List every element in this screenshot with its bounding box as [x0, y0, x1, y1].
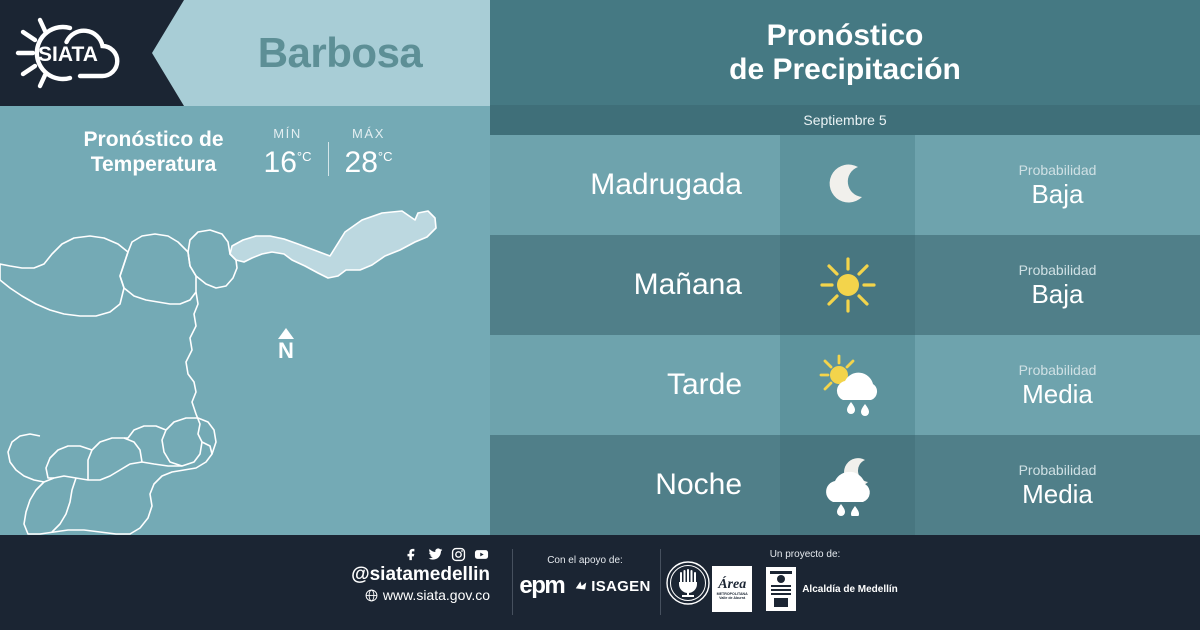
- forecast-row-madrugada[interactable]: Madrugada Probabilidad Baja: [490, 135, 1200, 235]
- probability-label: Probabilidad: [1019, 462, 1097, 479]
- moon-icon: [820, 157, 876, 213]
- globe-icon: [365, 589, 378, 602]
- probability-label: Probabilidad: [1019, 162, 1097, 179]
- left-header: SIATA Barbosa: [0, 0, 490, 106]
- map-municipality-sabaneta: [124, 426, 166, 438]
- probability-cell: Probabilidad Media: [915, 435, 1200, 535]
- period-cell: Tarde: [490, 335, 780, 435]
- period-cell: Madrugada: [490, 135, 780, 235]
- forecast-row-tarde[interactable]: Tarde: [490, 335, 1200, 435]
- support-block: Con el apoyo de: epm ISAGEN: [510, 555, 660, 600]
- probability-label: Probabilidad: [1019, 362, 1097, 379]
- youtube-icon[interactable]: [473, 547, 490, 562]
- instagram-icon[interactable]: [451, 547, 466, 562]
- area-metropolitana-logo[interactable]: Área METROPOLITANA Valle de Aburrá: [712, 566, 752, 612]
- right-panel: Pronóstico de Precipitación Septiembre 5…: [490, 0, 1200, 535]
- social-icons: [330, 547, 490, 562]
- social-block: @siatamedellin www.siata.gov.co: [330, 547, 490, 604]
- temperature-title-line1: Pronóstico de: [84, 127, 224, 152]
- temperature-title-line2: Temperatura: [84, 152, 224, 177]
- left-panel: SIATA Barbosa Pronóstico de Temperatura …: [0, 0, 490, 535]
- forecast-row-manana[interactable]: Mañana: [490, 235, 1200, 335]
- isagen-logo[interactable]: ISAGEN: [574, 578, 650, 595]
- footer-divider-2: [660, 549, 661, 615]
- weather-icon-cell: [780, 235, 915, 335]
- temperature-min-value: 16°C: [264, 142, 312, 178]
- probability-cell: Probabilidad Baja: [915, 235, 1200, 335]
- city-title: Barbosa: [190, 0, 490, 106]
- website-url: www.siata.gov.co: [383, 586, 490, 604]
- twitter-icon[interactable]: [427, 547, 444, 562]
- siata-logo[interactable]: SIATA: [0, 0, 152, 106]
- moon-rain-cloud-icon: [813, 454, 883, 516]
- weather-icon-cell: [780, 135, 915, 235]
- area-script-text: Área: [718, 578, 746, 592]
- period-label: Noche: [655, 468, 742, 502]
- temperature-block: Pronóstico de Temperatura MÍN 16°C MÁX 2…: [0, 120, 490, 184]
- temperature-divider: [328, 142, 329, 176]
- alcaldia-crest-icon: [766, 567, 796, 611]
- precipitation-title-line2: de Precipitación: [729, 53, 961, 87]
- map-region[interactable]: N: [0, 180, 490, 535]
- temperature-title: Pronóstico de Temperatura: [84, 127, 224, 177]
- left-body: Pronóstico de Temperatura MÍN 16°C MÁX 2…: [0, 106, 490, 535]
- probability-label: Probabilidad: [1019, 262, 1097, 279]
- temperature-max-label: MÁX: [345, 126, 393, 141]
- compass-north: N: [278, 328, 294, 362]
- period-label: Mañana: [634, 268, 742, 302]
- probability-cell: Probabilidad Media: [915, 335, 1200, 435]
- social-handle[interactable]: @siatamedellin: [330, 564, 490, 586]
- support-title: Con el apoyo de:: [510, 555, 660, 566]
- valle-de-aburra-map: [0, 180, 490, 535]
- forecast-row-noche[interactable]: Noche Probabilidad Media: [490, 435, 1200, 535]
- min-number: 16: [264, 146, 297, 179]
- website-line[interactable]: www.siata.gov.co: [330, 586, 490, 604]
- min-unit: °C: [297, 149, 312, 164]
- max-unit: °C: [378, 149, 393, 164]
- project-title: Un proyecto de:: [700, 549, 910, 560]
- footer: @siatamedellin www.siata.gov.co Con el a…: [0, 535, 1200, 630]
- weather-icon-cell: [780, 335, 915, 435]
- precipitation-title-line1: Pronóstico: [767, 19, 924, 53]
- map-municipality-copacabana: [120, 234, 196, 304]
- map-municipality-barbosa: [230, 211, 436, 278]
- sun-rain-cloud-icon: [813, 354, 883, 416]
- temperature-max: MÁX 28°C: [331, 126, 407, 178]
- alcaldia-text: Alcaldía de Medellín: [802, 584, 898, 595]
- facebook-icon[interactable]: [405, 547, 420, 562]
- compass-label: N: [278, 340, 294, 362]
- isagen-mark-icon: [574, 579, 588, 593]
- alcaldia-logo[interactable]: Alcaldía de Medellín: [766, 567, 898, 611]
- support-logos: epm ISAGEN: [510, 572, 660, 600]
- project-block: Un proyecto de: Área METROPOLITANA Valle…: [700, 549, 910, 612]
- probability-value: Media: [1022, 479, 1093, 509]
- probability-value: Baja: [1031, 279, 1083, 309]
- max-number: 28: [345, 146, 378, 179]
- epm-logo[interactable]: epm: [519, 572, 564, 600]
- isagen-wordmark: ISAGEN: [591, 578, 650, 595]
- temperature-min-label: MÍN: [264, 126, 312, 141]
- logo-wordmark: SIATA: [38, 43, 98, 66]
- weather-icon-cell: [780, 435, 915, 535]
- sun-icon: [818, 255, 878, 315]
- map-municipality-caldas: [52, 478, 76, 532]
- probability-cell: Probabilidad Baja: [915, 135, 1200, 235]
- map-west-edge: [8, 434, 44, 482]
- map-municipality-bello: [0, 236, 128, 316]
- sun-cloud-icon: SIATA: [14, 14, 129, 92]
- temperature-values: MÍN 16°C MÁX 28°C: [250, 126, 407, 178]
- period-cell: Noche: [490, 435, 780, 535]
- period-label: Madrugada: [590, 168, 742, 202]
- forecast-date: Septiembre 5: [803, 112, 886, 128]
- temperature-min: MÍN 16°C: [250, 126, 326, 178]
- project-logos: Área METROPOLITANA Valle de Aburrá: [700, 566, 910, 612]
- probability-value: Baja: [1031, 179, 1083, 209]
- period-cell: Mañana: [490, 235, 780, 335]
- temperature-max-value: 28°C: [345, 142, 393, 178]
- precipitation-header: Pronóstico de Precipitación: [490, 0, 1200, 105]
- weather-forecast-card: SIATA Barbosa Pronóstico de Temperatura …: [0, 0, 1200, 630]
- forecast-rows: Madrugada Probabilidad Baja Mañana: [490, 135, 1200, 535]
- map-municipality-laestrella: [46, 446, 92, 478]
- forecast-date-band: Septiembre 5: [490, 105, 1200, 135]
- area-sub-line2: Valle de Aburrá: [719, 596, 745, 600]
- period-label: Tarde: [667, 368, 742, 402]
- probability-value: Media: [1022, 379, 1093, 409]
